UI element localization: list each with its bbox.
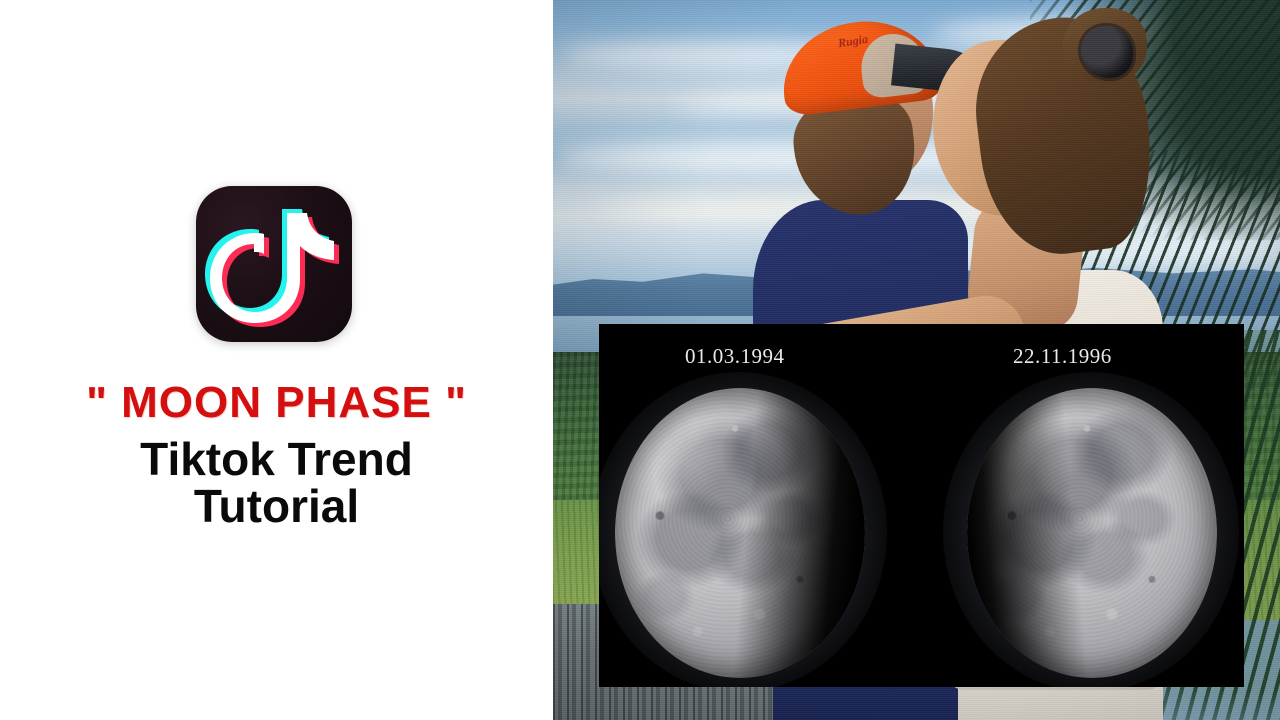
moon-edge-shading <box>967 388 1217 678</box>
moon-date-right: 22.11.1996 <box>1013 344 1112 369</box>
tiktok-logo-wrap <box>196 186 352 342</box>
page-title: " MOON PHASE " <box>0 378 553 428</box>
subtitle-line-1: Tiktok Trend <box>140 433 413 485</box>
left-title-panel: " MOON PHASE " Tiktok Trend Tutorial <box>0 0 553 720</box>
moon-image-right <box>967 388 1217 678</box>
slide-canvas: " MOON PHASE " Tiktok Trend Tutorial GOZ… <box>0 0 1280 720</box>
moon-date-left: 01.03.1994 <box>685 344 785 369</box>
page-subtitle: Tiktok Trend Tutorial <box>0 436 553 531</box>
moon-phase-overlay: 01.03.1994 22.11.1996 <box>599 324 1244 687</box>
subtitle-line-2: Tutorial <box>0 483 553 530</box>
woman-hair-clip <box>1081 26 1133 78</box>
moon-edge-shading <box>615 388 865 678</box>
moon-image-left <box>615 388 865 678</box>
tiktok-logo-icon <box>196 186 352 342</box>
